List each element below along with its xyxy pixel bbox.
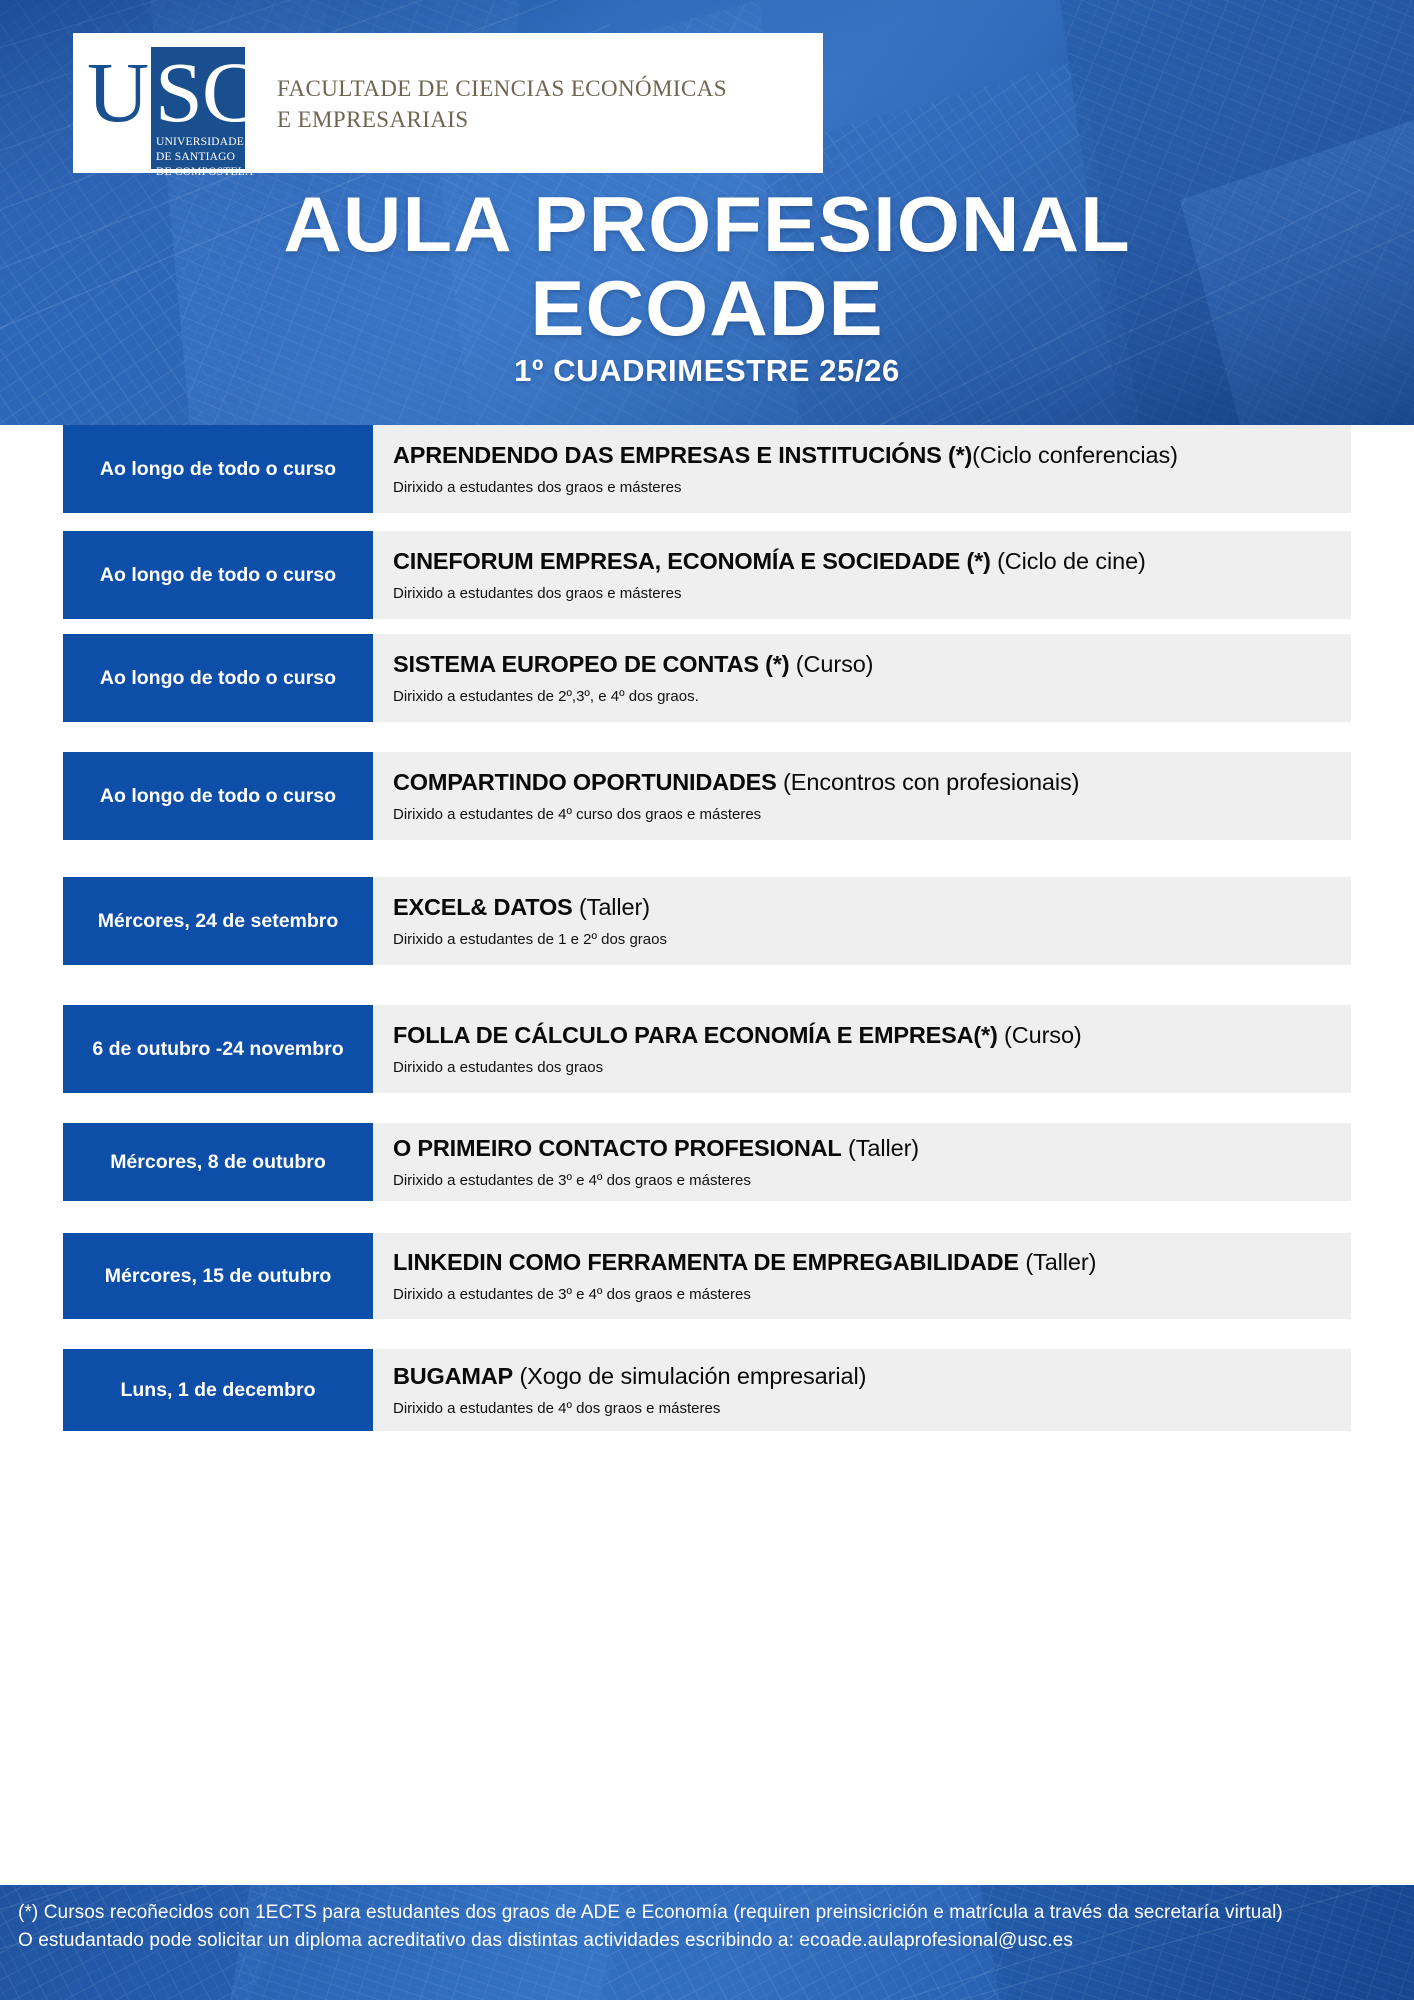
page-title-line-1: AULA PROFESIONAL <box>283 180 1130 268</box>
schedule-row-title-main: FOLLA DE CÁLCULO PARA ECONOMÍA E EMPRESA… <box>393 1022 998 1048</box>
schedule-row-description: Dirixido a estudantes de 3º e 4º dos gra… <box>393 1171 1333 1191</box>
schedule-row-title: COMPARTINDO OPORTUNIDADES (Encontros con… <box>393 767 1333 805</box>
usc-logo-letter-u: U <box>87 49 149 135</box>
schedule-row-date: Mércores, 15 de outubro <box>63 1233 373 1319</box>
usc-logo-line-2: DE SANTIAGO <box>156 150 253 165</box>
schedule-row-info: COMPARTINDO OPORTUNIDADES (Encontros con… <box>373 752 1351 840</box>
schedule-row-date: Ao longo de todo o curso <box>63 634 373 722</box>
schedule-row-description: Dirixido a estudantes de 2º,3º, e 4º dos… <box>393 687 1333 707</box>
page-title: AULA PROFESIONAL ECOADE <box>0 182 1414 350</box>
schedule-row-title: LINKEDIN COMO FERRAMENTA DE EMPREGABILID… <box>393 1247 1333 1285</box>
schedule-row-description: Dirixido a estudantes de 4º dos graos e … <box>393 1399 1333 1419</box>
usc-logo-line-3: DE COMPOSTELA <box>156 165 253 180</box>
schedule-row-title: O PRIMEIRO CONTACTO PROFESIONAL (Taller) <box>393 1133 1333 1171</box>
schedule-row-info: BUGAMAP (Xogo de simulación empresarial)… <box>373 1349 1351 1431</box>
schedule-row-info: SISTEMA EUROPEO DE CONTAS (*) (Curso) Di… <box>373 634 1351 722</box>
usc-logo-letters-sc: SC <box>155 49 258 135</box>
schedule-row-description: Dirixido a estudantes de 4º curso dos gr… <box>393 805 1333 825</box>
schedule-row-date: Mércores, 24 de setembro <box>63 877 373 965</box>
schedule-row: Ao longo de todo o cursoCOMPARTINDO OPOR… <box>0 752 1414 840</box>
schedule-row-title-kind: (Ciclo conferencias) <box>972 442 1178 468</box>
schedule-row-title-main: APRENDENDO DAS EMPRESAS E INSTITUCIÓNS (… <box>393 442 972 468</box>
schedule-row-info: FOLLA DE CÁLCULO PARA ECONOMÍA E EMPRESA… <box>373 1005 1351 1093</box>
schedule-row-title-kind: (Taller) <box>573 894 650 920</box>
footer-note-line-2: O estudantado pode solicitar un diploma … <box>18 1927 1394 1955</box>
poster-header: U SC UNIVERSIDADE DE SANTIAGO DE COMPOST… <box>0 0 1414 425</box>
usc-logo-line-1: UNIVERSIDADE <box>156 135 253 150</box>
schedule-row: Ao longo de todo o cursoAPRENDENDO DAS E… <box>0 425 1414 513</box>
usc-logo-mark: U SC UNIVERSIDADE DE SANTIAGO DE COMPOST… <box>73 33 263 173</box>
schedule-row: Mércores, 24 de setembroEXCEL& DATOS (Ta… <box>0 877 1414 965</box>
schedule-row: Luns, 1 de decembroBUGAMAP (Xogo de simu… <box>0 1349 1414 1431</box>
schedule-row-title-kind: (Curso) <box>998 1022 1082 1048</box>
faculty-name: FACULTADE DE CIENCIAS ECONÓMICAS E EMPRE… <box>277 73 727 135</box>
schedule-row: Ao longo de todo o cursoCINEFORUM EMPRES… <box>0 531 1414 619</box>
schedule-row-title-main: BUGAMAP <box>393 1363 513 1389</box>
schedule-row-info: EXCEL& DATOS (Taller)Dirixido a estudant… <box>373 877 1351 965</box>
faculty-name-line-1: FACULTADE DE CIENCIAS ECONÓMICAS <box>277 73 727 104</box>
schedule-row-title: FOLLA DE CÁLCULO PARA ECONOMÍA E EMPRESA… <box>393 1020 1333 1058</box>
schedule-row-date: Ao longo de todo o curso <box>63 425 373 513</box>
schedule-row-date: Luns, 1 de decembro <box>63 1349 373 1431</box>
usc-logo-block: U SC UNIVERSIDADE DE SANTIAGO DE COMPOST… <box>73 33 823 173</box>
schedule-row-info: CINEFORUM EMPRESA, ECONOMÍA E SOCIEDADE … <box>373 531 1351 619</box>
footer-note-line-1: (*) Cursos recoñecidos con 1ECTS para es… <box>18 1899 1394 1927</box>
schedule-row-title-main: O PRIMEIRO CONTACTO PROFESIONAL <box>393 1135 842 1161</box>
faculty-name-line-2: E EMPRESARIAIS <box>277 104 727 135</box>
schedule-row-title-main: CINEFORUM EMPRESA, ECONOMÍA E SOCIEDADE … <box>393 548 991 574</box>
schedule-row: Mércores, 8 de outubroO PRIMEIRO CONTACT… <box>0 1123 1414 1201</box>
schedule-list: Ao longo de todo o cursoAPRENDENDO DAS E… <box>0 425 1414 1475</box>
schedule-row-title: EXCEL& DATOS (Taller) <box>393 892 1333 930</box>
schedule-row-description: Dirixido a estudantes dos graos <box>393 1058 1333 1078</box>
schedule-row-title-main: EXCEL& DATOS <box>393 894 573 920</box>
schedule-row-description: Dirixido a estudantes dos graos e máster… <box>393 584 1333 604</box>
schedule-row-info: APRENDENDO DAS EMPRESAS E INSTITUCIÓNS (… <box>373 425 1351 513</box>
schedule-row-title-kind: (Curso) <box>789 651 873 677</box>
poster-footer: (*) Cursos recoñecidos con 1ECTS para es… <box>0 1885 1414 2000</box>
schedule-row-title-main: LINKEDIN COMO FERRAMENTA DE EMPREGABILID… <box>393 1249 1019 1275</box>
schedule-row-description: Dirixido a estudantes de 3º e 4º dos gra… <box>393 1285 1333 1305</box>
schedule-row-date: Mércores, 8 de outubro <box>63 1123 373 1201</box>
schedule-row-title: BUGAMAP (Xogo de simulación empresarial) <box>393 1361 1333 1399</box>
schedule-row: Mércores, 15 de outubroLINKEDIN COMO FER… <box>0 1233 1414 1319</box>
schedule-row-title-kind: (Xogo de simulación empresarial) <box>513 1363 866 1389</box>
usc-logo-university-lines: UNIVERSIDADE DE SANTIAGO DE COMPOSTELA <box>156 135 253 180</box>
schedule-row-date: 6 de outubro -24 novembro <box>63 1005 373 1093</box>
schedule-row-title-kind: (Taller) <box>1019 1249 1096 1275</box>
schedule-row-title-kind: (Ciclo de cine) <box>991 548 1146 574</box>
schedule-row-info: LINKEDIN COMO FERRAMENTA DE EMPREGABILID… <box>373 1233 1351 1319</box>
schedule-row-date: Ao longo de todo o curso <box>63 752 373 840</box>
schedule-row-date: Ao longo de todo o curso <box>63 531 373 619</box>
page-subtitle: 1º CUADRIMESTRE 25/26 <box>0 353 1414 389</box>
schedule-row-description: Dirixido a estudantes dos graos e máster… <box>393 478 1333 498</box>
schedule-row-title-main: COMPARTINDO OPORTUNIDADES <box>393 769 777 795</box>
usc-logo-blue-panel: SC UNIVERSIDADE DE SANTIAGO DE COMPOSTEL… <box>151 47 245 169</box>
schedule-row-title-kind: (Encontros con profesionais) <box>777 769 1080 795</box>
footer-notes: (*) Cursos recoñecidos con 1ECTS para es… <box>0 1885 1414 1955</box>
schedule-row-title-kind: (Taller) <box>842 1135 919 1161</box>
schedule-row: 6 de outubro -24 novembroFOLLA DE CÁLCUL… <box>0 1005 1414 1093</box>
schedule-row-title: APRENDENDO DAS EMPRESAS E INSTITUCIÓNS (… <box>393 440 1333 478</box>
schedule-row-title: SISTEMA EUROPEO DE CONTAS (*) (Curso) <box>393 649 1333 687</box>
schedule-row-title-main: SISTEMA EUROPEO DE CONTAS (*) <box>393 651 789 677</box>
schedule-row-info: O PRIMEIRO CONTACTO PROFESIONAL (Taller)… <box>373 1123 1351 1201</box>
page-title-line-2: ECOADE <box>0 266 1414 350</box>
schedule-row: Ao longo de todo o cursoSISTEMA EUROPEO … <box>0 634 1414 722</box>
schedule-row-description: Dirixido a estudantes de 1 e 2º dos grao… <box>393 930 1333 950</box>
schedule-row-title: CINEFORUM EMPRESA, ECONOMÍA E SOCIEDADE … <box>393 546 1333 584</box>
